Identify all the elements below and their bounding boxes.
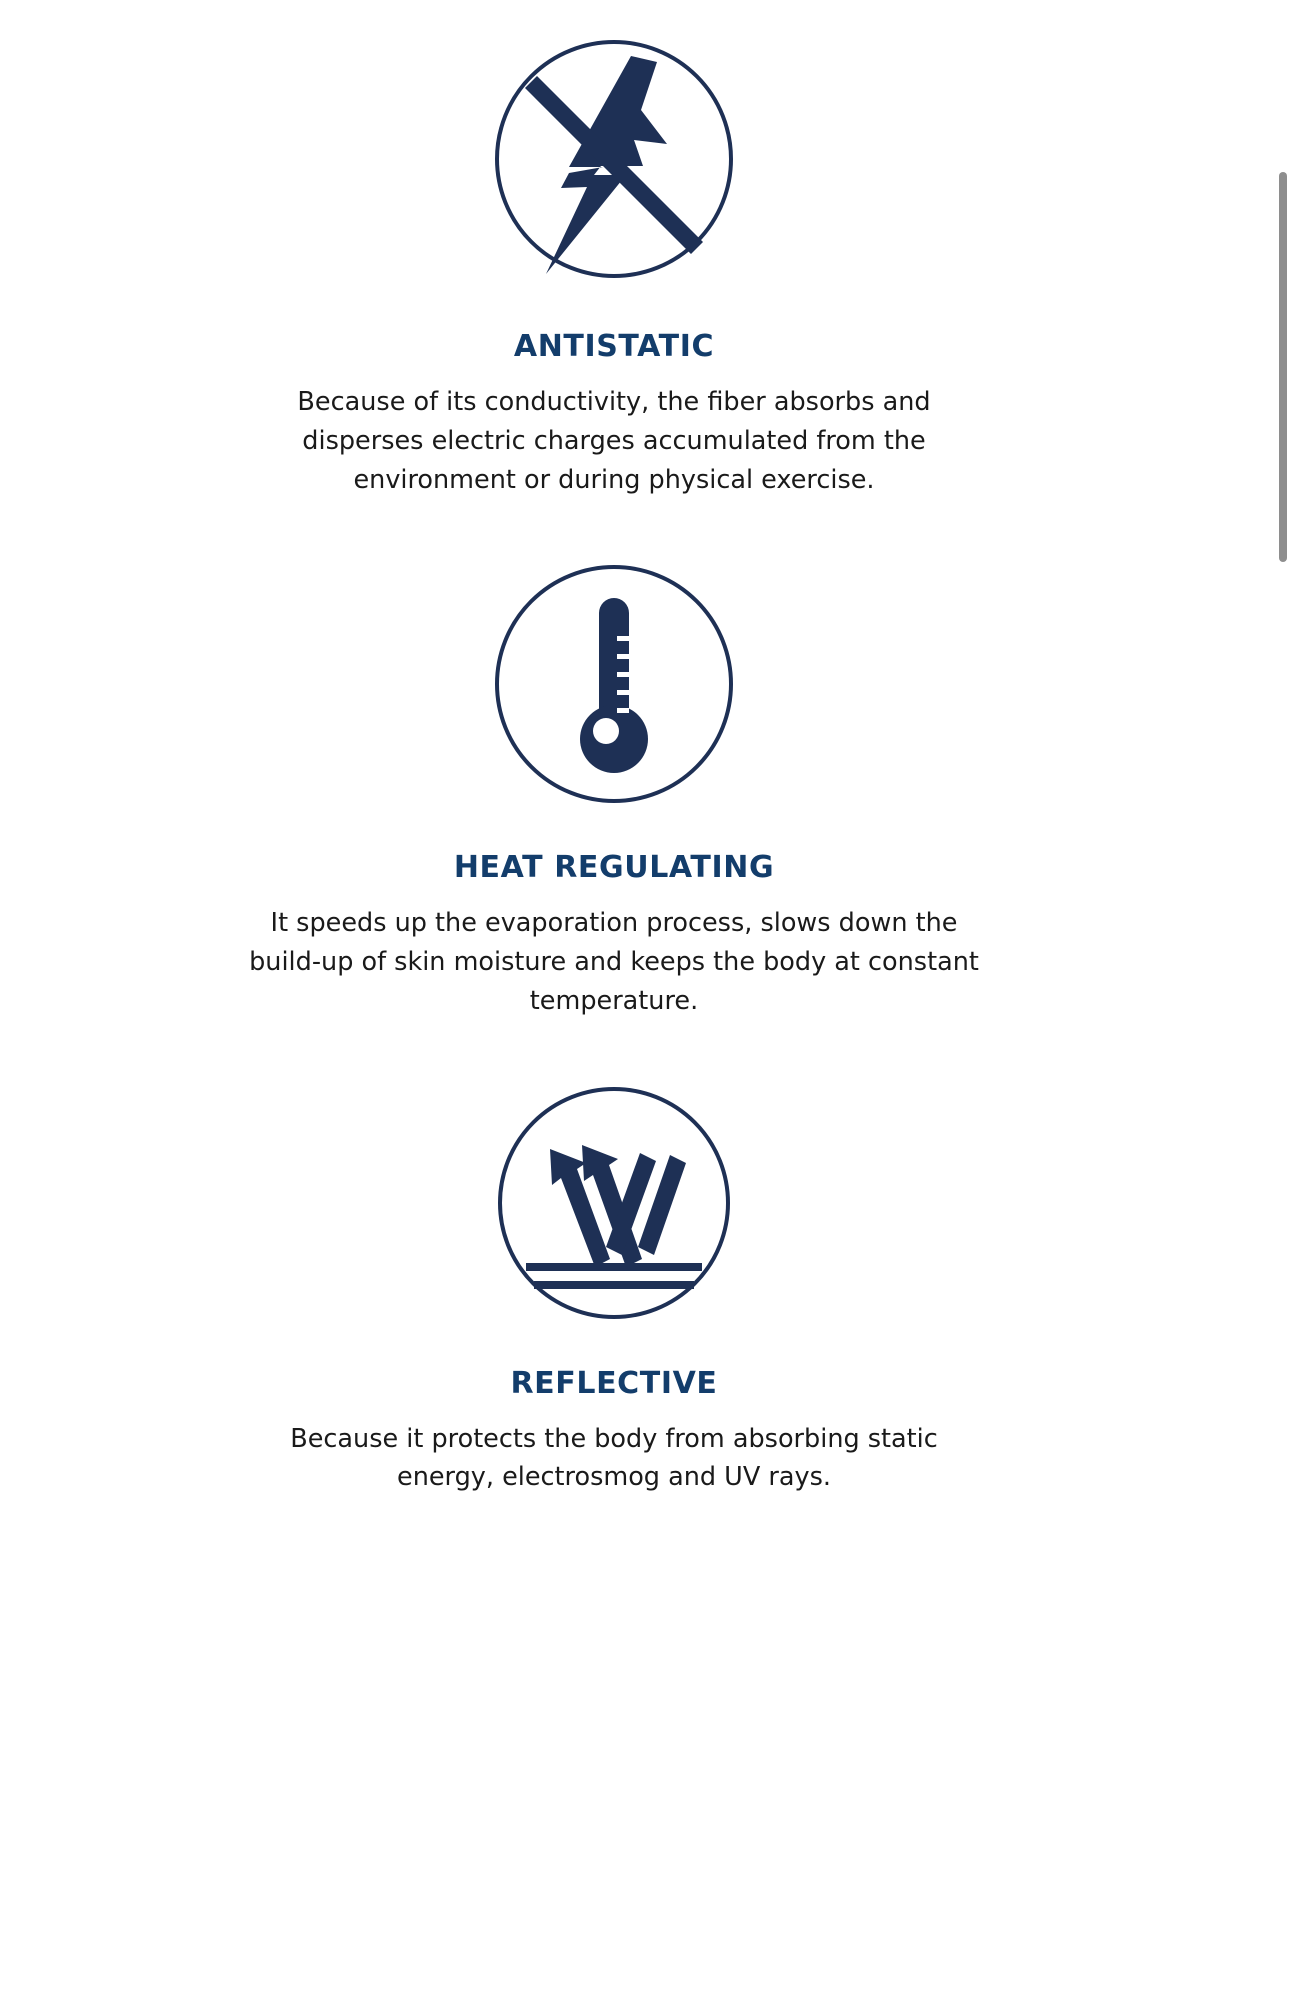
antistatic-icon-wrap <box>0 36 1228 282</box>
feature-item-heat-regulating: HEAT REGULATING It speeds up the evapora… <box>0 499 1228 1020</box>
feature-item-antistatic: ANTISTATIC Because of its conductivity, … <box>0 0 1228 499</box>
vertical-scrollbar-thumb[interactable] <box>1279 172 1287 562</box>
vertical-scrollbar-track[interactable] <box>1276 0 1290 2002</box>
antistatic-no-lightning-icon <box>491 36 737 282</box>
feature-description-antistatic: Because of its conductivity, the fiber a… <box>264 363 964 499</box>
feature-list: ANTISTATIC Because of its conductivity, … <box>0 0 1228 1497</box>
thermometer-icon-wrap <box>0 561 1228 807</box>
feature-item-reflective: REFLECTIVE Because it protects the body … <box>0 1021 1228 1498</box>
thermometer-icon <box>491 561 737 807</box>
feature-title-heat-regulating: HEAT REGULATING <box>0 807 1228 884</box>
feature-title-antistatic: ANTISTATIC <box>0 282 1228 363</box>
feature-description-reflective: Because it protects the body from absorb… <box>264 1400 964 1498</box>
reflective-icon-wrap <box>0 1083 1228 1323</box>
feature-benefits-page: ANTISTATIC Because of its conductivity, … <box>0 0 1290 2002</box>
reflective-arrows-icon <box>494 1083 734 1323</box>
feature-title-reflective: REFLECTIVE <box>0 1323 1228 1400</box>
feature-description-heat-regulating: It speeds up the evaporation process, sl… <box>249 884 979 1020</box>
